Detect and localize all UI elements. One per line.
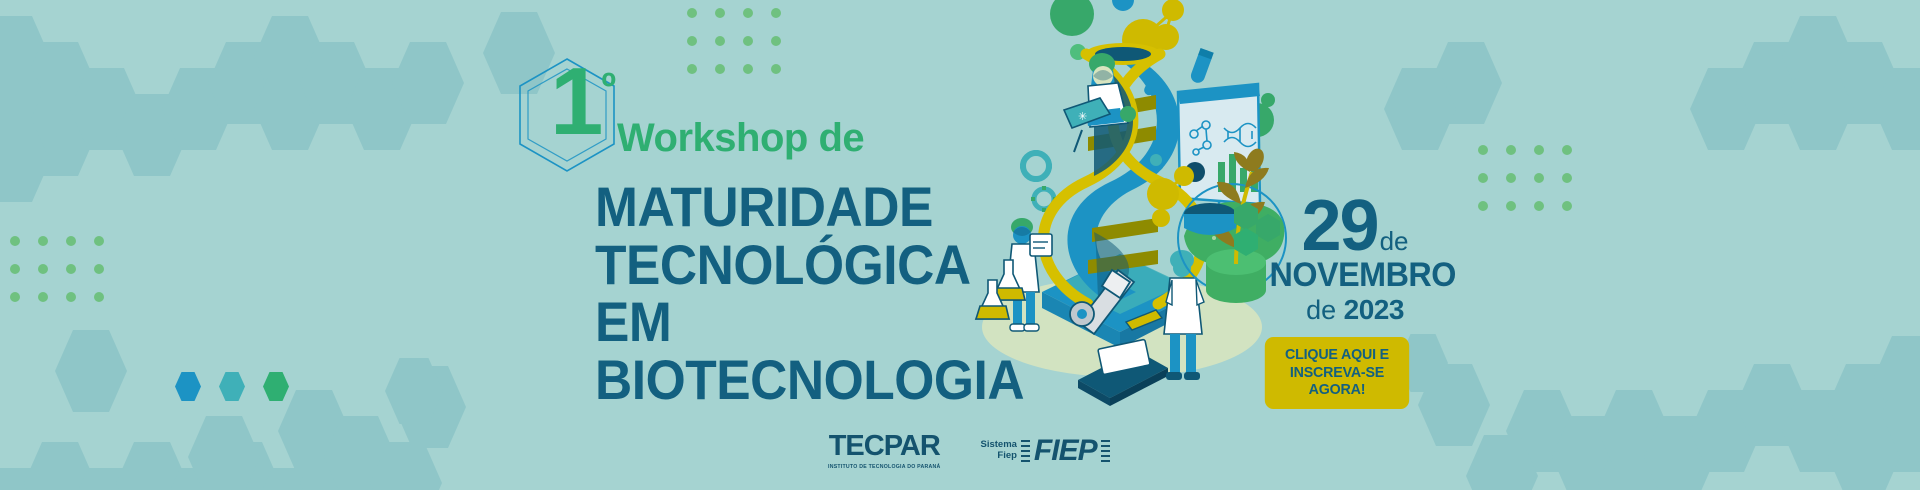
hexagon-dot-row — [175, 372, 289, 401]
bg-hexagon — [300, 42, 372, 124]
test-tube-blue-1 — [1189, 48, 1214, 85]
bg-hexagon — [1506, 390, 1578, 472]
bg-hexagon — [254, 16, 326, 98]
cta-line-1: CLIQUE AQUI E — [1285, 346, 1389, 363]
accent-dot-green — [1120, 106, 1136, 122]
date-de-label: de — [1380, 226, 1409, 257]
fiep-wordmark: FIEP — [1034, 436, 1097, 466]
bg-hexagon — [1690, 390, 1762, 472]
event-ordinal: 1º — [550, 54, 614, 150]
bg-hexagon — [70, 68, 142, 150]
workshop-label: Workshop de — [617, 116, 864, 161]
bg-hexagon — [300, 442, 372, 490]
bg-hexagon — [1782, 16, 1854, 98]
date-year: 2023 — [1344, 294, 1404, 325]
bg-hexagon — [0, 16, 50, 98]
bg-hexagon — [1874, 336, 1920, 418]
bg-hexagon — [208, 42, 280, 124]
fiep-bars-right-icon — [1101, 440, 1110, 463]
register-cta-button[interactable]: CLIQUE AQUI E INSCREVA-SE AGORA! — [1265, 337, 1409, 409]
bg-hexagon — [385, 358, 443, 424]
bg-hexagon — [254, 468, 326, 490]
event-date: 29de NOVEMBRO de 2023 — [1265, 195, 1445, 326]
bg-hexagon — [116, 442, 188, 490]
bg-hexagon — [162, 468, 234, 490]
bg-hexagon — [1736, 364, 1808, 446]
bg-hexagon — [188, 416, 260, 490]
bg-hexagon — [324, 416, 396, 490]
dot-grid-left — [10, 236, 104, 302]
beaker-cylinder — [1184, 203, 1236, 235]
bg-hexagon — [0, 68, 50, 150]
hex-dot-teal — [219, 372, 245, 401]
bg-hexagon — [1828, 364, 1900, 446]
bg-hexagon — [1690, 68, 1762, 150]
tecpar-wordmark: TECPAR — [828, 432, 940, 461]
gear-icon — [1020, 150, 1052, 182]
bg-hexagon — [1874, 68, 1920, 150]
bg-hexagon — [1552, 416, 1624, 490]
bg-hexagon — [24, 42, 96, 124]
sponsor-logos: TECPAR INSTITUTO DE TECNOLOGIA DO PARANÁ… — [828, 432, 1110, 470]
bg-hexagon — [1384, 68, 1456, 150]
accent-dot-blue — [1150, 154, 1162, 166]
fiep-logo[interactable]: Sistema Fiep FIEP — [980, 436, 1109, 466]
bg-hexagon — [1466, 435, 1538, 490]
date-year-prefix: de — [1306, 295, 1336, 325]
tecpar-logo[interactable]: TECPAR INSTITUTO DE TECNOLOGIA DO PARANÁ — [828, 432, 940, 470]
bg-hexagon — [208, 442, 280, 490]
hex-dot-blue — [175, 372, 201, 401]
bg-hexagon — [1418, 364, 1490, 446]
fiep-sistema-line2: Fiep — [980, 451, 1016, 462]
bg-hexagon — [24, 94, 96, 176]
bg-hexagon — [254, 68, 326, 150]
bg-hexagon — [1598, 390, 1670, 472]
bg-hexagon — [1736, 42, 1808, 124]
bg-hexagon — [24, 442, 96, 490]
bg-hexagon — [1430, 42, 1502, 124]
molecule-circle-green — [1050, 0, 1094, 36]
tecpar-tagline: INSTITUTO DE TECNOLOGIA DO PARANÁ — [828, 464, 940, 470]
bg-hexagon — [0, 120, 50, 202]
bg-hexagon — [70, 468, 142, 490]
hex-dot-green — [263, 372, 289, 401]
bg-hexagon — [1874, 390, 1920, 472]
bg-hexagon — [1782, 68, 1854, 150]
bg-hexagon — [346, 68, 418, 150]
cta-line-2: INSCREVA-SE AGORA! — [1290, 364, 1384, 399]
dot-grid-top — [687, 8, 781, 74]
fiep-bars-left-icon — [1021, 440, 1030, 463]
event-banner: 1º Workshop de MATURIDADE TECNOLÓGICA EM… — [0, 0, 1920, 490]
bg-hexagon — [278, 390, 350, 472]
bg-hexagon — [1644, 416, 1716, 490]
biotechnology-laboratory-illustration: ✳ — [960, 0, 1300, 412]
bg-hexagon — [394, 366, 466, 448]
bg-hexagon — [162, 68, 234, 150]
clipboard — [1030, 234, 1052, 256]
bg-hexagon — [370, 442, 442, 490]
bg-hexagon — [392, 42, 464, 124]
svg-text:✳: ✳ — [1078, 111, 1087, 123]
date-day: 29 — [1301, 195, 1377, 258]
bg-hexagon — [55, 330, 127, 412]
molecule-circle-blue — [1112, 0, 1134, 11]
date-month: NOVEMBRO — [1270, 258, 1441, 294]
bg-hexagon — [0, 468, 50, 490]
bg-hexagon — [1598, 442, 1670, 490]
ordinal-number: 1 — [550, 48, 601, 155]
bg-hexagon — [1828, 416, 1900, 490]
fiep-sistema-label: Sistema Fiep — [980, 440, 1016, 462]
bg-hexagon — [1828, 42, 1900, 124]
bg-hexagon — [1782, 390, 1854, 472]
dot-grid-right — [1478, 145, 1572, 211]
bg-hexagon — [116, 94, 188, 176]
ordinal-suffix: º — [601, 66, 614, 110]
